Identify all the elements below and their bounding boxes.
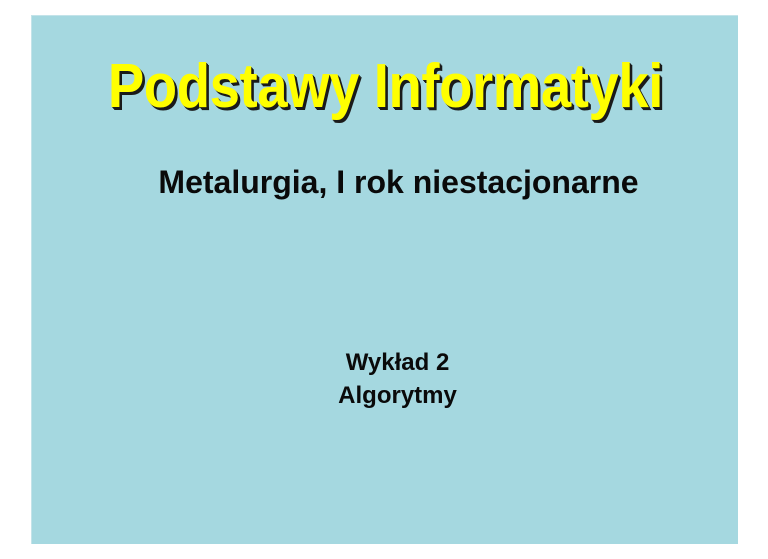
- slide-canvas: Podstawy Informatyki Metalurgia, I rok n…: [0, 0, 768, 559]
- slide-footer-block: Wykład 2 Algorytmy: [32, 346, 738, 412]
- lecture-number-label: Wykład 2: [56, 346, 738, 379]
- page-title: Podstawy Informatyki: [108, 54, 663, 120]
- slide-subtitle-block: Metalurgia, I rok niestacjonarne: [32, 163, 738, 201]
- slide-title-block: Podstawy Informatyki: [32, 54, 738, 120]
- page-subtitle: Metalurgia, I rok niestacjonarne: [158, 163, 638, 201]
- presentation-slide: Podstawy Informatyki Metalurgia, I rok n…: [31, 15, 738, 544]
- lecture-topic-label: Algorytmy: [56, 379, 738, 412]
